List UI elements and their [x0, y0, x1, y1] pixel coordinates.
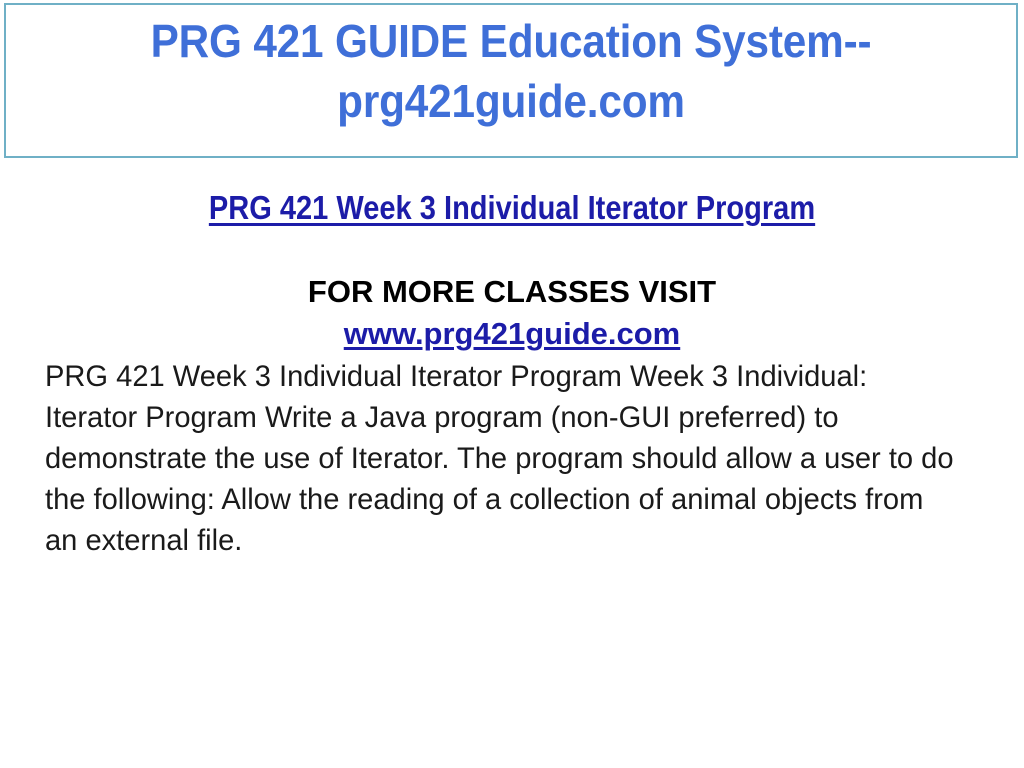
page-title: PRG 421 Week 3 Individual Iterator Progr… — [61, 190, 962, 226]
website-link[interactable]: www.prg421guide.com — [0, 316, 1024, 352]
body-paragraph: PRG 421 Week 3 Individual Iterator Progr… — [45, 356, 957, 561]
slide-canvas: PRG 421 GUIDE Education System-- prg421g… — [0, 0, 1024, 768]
banner-title: PRG 421 GUIDE Education System-- prg421g… — [46, 11, 975, 131]
title-banner: PRG 421 GUIDE Education System-- prg421g… — [4, 3, 1018, 158]
call-to-action-label: FOR MORE CLASSES VISIT — [0, 274, 1024, 310]
